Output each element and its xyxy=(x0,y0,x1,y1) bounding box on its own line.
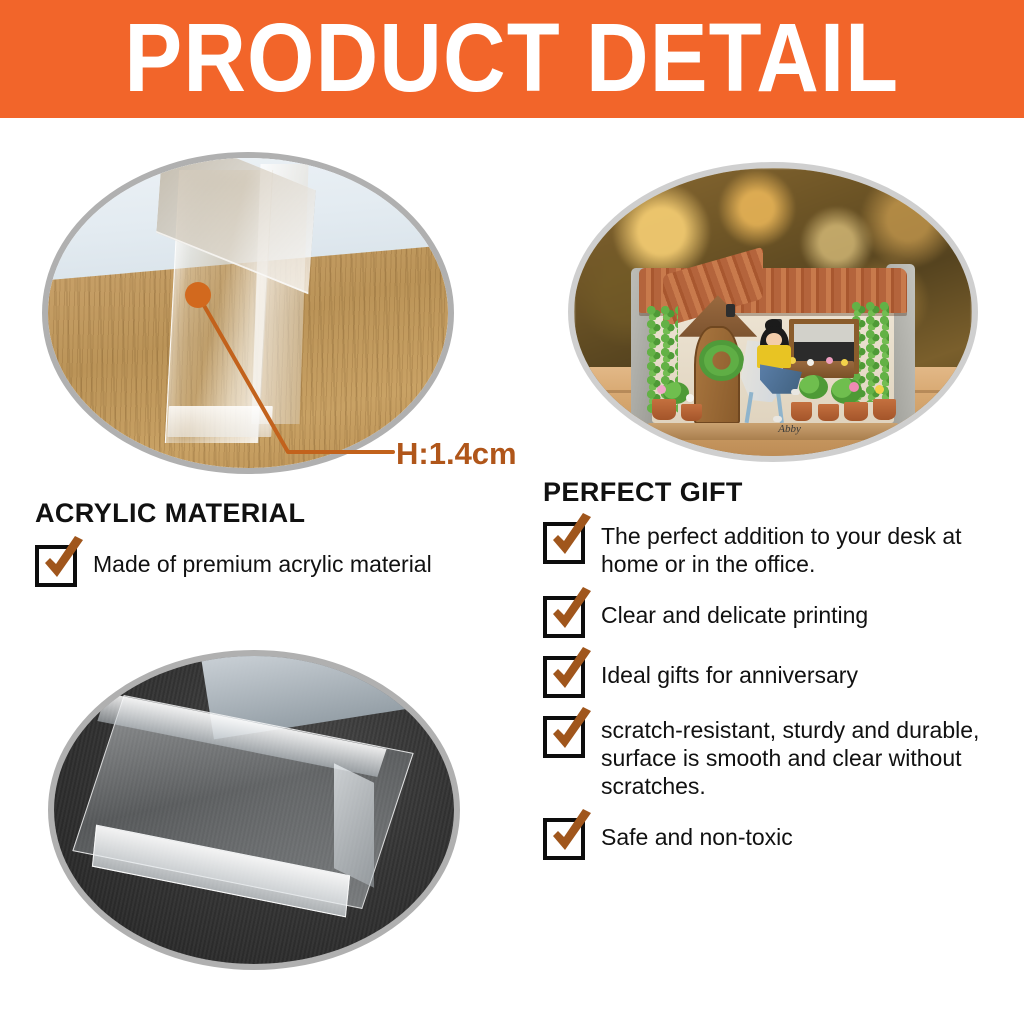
door-wreath xyxy=(699,340,743,381)
figure-shoe-2 xyxy=(773,416,782,422)
dimension-callout-dot xyxy=(185,282,211,308)
dimension-label: H:1.4cm xyxy=(396,436,517,472)
feature-text: The perfect addition to your desk at hom… xyxy=(601,522,1001,578)
check-icon xyxy=(37,536,91,590)
figure-yellow-top xyxy=(757,345,791,367)
checkbox-icon xyxy=(543,716,585,758)
check-icon xyxy=(545,707,599,761)
feature-item: scratch-resistant, sturdy and durable, s… xyxy=(543,716,1013,800)
pot-bloom-3 xyxy=(849,382,859,392)
acrylic-base-edge xyxy=(167,406,273,437)
wall-lamp-left xyxy=(726,304,735,317)
acrylic-block-photo-content xyxy=(54,656,454,964)
feature-text: scratch-resistant, sturdy and durable, s… xyxy=(601,716,1013,800)
flower-pot-4 xyxy=(818,404,839,421)
checkbox-icon xyxy=(543,656,585,698)
checkbox-icon xyxy=(543,522,585,564)
product-detail-page: PRODUCT DETAIL H:1.4cm xyxy=(0,0,1024,1024)
check-icon xyxy=(545,809,599,863)
figurine-base xyxy=(647,423,899,440)
garden-bush-1 xyxy=(799,375,828,399)
feature-text: Safe and non-toxic xyxy=(601,818,793,851)
flower-pot-6 xyxy=(873,399,897,420)
feature-item: Safe and non-toxic xyxy=(543,818,1013,860)
flower-pot-1 xyxy=(652,399,676,420)
feature-list-acrylic-material: Made of premium acrylic material xyxy=(35,545,525,597)
artist-signature: Abby xyxy=(778,423,801,435)
feature-item: Made of premium acrylic material xyxy=(35,545,525,587)
feature-item: Ideal gifts for anniversary xyxy=(543,656,1013,698)
section-title-acrylic-material: ACRYLIC MATERIAL xyxy=(35,498,305,529)
feature-text: Clear and delicate printing xyxy=(601,596,868,629)
acrylic-edge-photo xyxy=(42,152,454,474)
check-icon xyxy=(545,647,599,701)
feature-text: Made of premium acrylic material xyxy=(93,545,432,578)
feature-list-perfect-gift: The perfect addition to your desk at hom… xyxy=(543,522,1013,870)
feature-item: The perfect addition to your desk at hom… xyxy=(543,522,1013,578)
header-banner: PRODUCT DETAIL xyxy=(0,0,1024,118)
check-icon xyxy=(545,587,599,641)
checkbox-icon xyxy=(543,818,585,860)
cottage-figurine: Abby xyxy=(642,257,905,430)
acrylic-edge-photo-content xyxy=(48,158,448,468)
acrylic-block-photo xyxy=(48,650,460,970)
wood-scene xyxy=(48,158,448,468)
page-title: PRODUCT DETAIL xyxy=(125,10,900,107)
cottage-product-photo: Abby xyxy=(568,162,978,462)
check-icon xyxy=(545,513,599,567)
feature-text: Ideal gifts for anniversary xyxy=(601,656,858,689)
flower-pot-2 xyxy=(681,404,702,421)
checkbox-icon xyxy=(543,596,585,638)
feature-item: Clear and delicate printing xyxy=(543,596,1013,638)
cottage-photo-content: Abby xyxy=(574,168,972,456)
checkbox-icon xyxy=(35,545,77,587)
section-title-perfect-gift: PERFECT GIFT xyxy=(543,477,743,508)
flower-pot-5 xyxy=(844,402,868,421)
block-side-face xyxy=(334,763,374,887)
flower-pot-3 xyxy=(791,402,812,421)
